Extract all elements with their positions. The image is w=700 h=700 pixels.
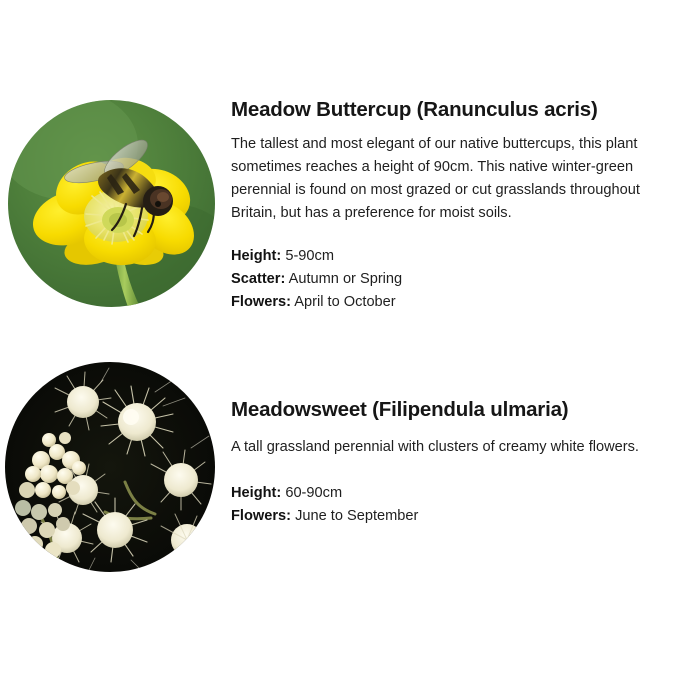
description-meadowsweet: A tall grassland perennial with clusters… <box>231 436 691 459</box>
stat-value-scatter: Autumn or Spring <box>289 271 403 287</box>
stat-label-flowers: Flowers: <box>231 294 291 310</box>
buttercup-flower-with-hoverfly-photo <box>8 100 215 307</box>
stat-value-flowers: June to September <box>295 508 418 524</box>
stat-value-height: 60-90cm <box>285 485 342 501</box>
stat-value-flowers: April to October <box>294 294 395 310</box>
stat-row-flowers: Flowers: April to October <box>231 291 402 314</box>
stat-value-height: 5-90cm <box>285 248 334 264</box>
stat-label-height: Height: <box>231 485 281 501</box>
stat-row-height: Height: 60-90cm <box>231 482 418 505</box>
stat-label-scatter: Scatter: <box>231 271 285 287</box>
stat-label-flowers: Flowers: <box>231 508 291 524</box>
meadowsweet-flower-clusters-photo <box>5 362 215 572</box>
stat-label-height: Height: <box>231 248 281 264</box>
stat-row-flowers: Flowers: June to September <box>231 505 418 528</box>
stats-meadowsweet: Height: 60-90cm Flowers: June to Septemb… <box>231 482 418 528</box>
stat-row-height: Height: 5-90cm <box>231 245 402 268</box>
stat-row-scatter: Scatter: Autumn or Spring <box>231 268 402 291</box>
page-title-meadow-buttercup: Meadow Buttercup (Ranunculus acris) <box>231 97 598 123</box>
description-meadow-buttercup: The tallest and most elegant of our nati… <box>231 133 689 225</box>
stats-meadow-buttercup: Height: 5-90cm Scatter: Autumn or Spring… <box>231 245 402 314</box>
page-title-meadowsweet: Meadowsweet (Filipendula ulmaria) <box>231 397 568 423</box>
